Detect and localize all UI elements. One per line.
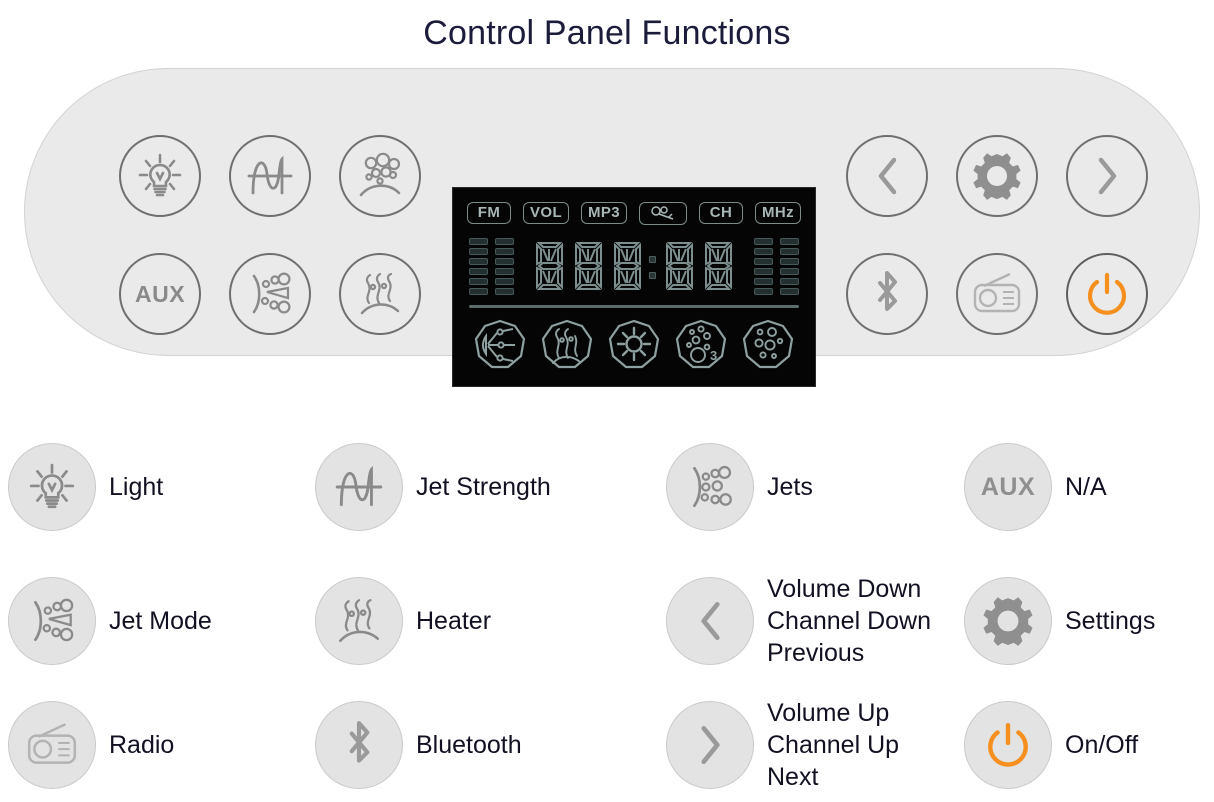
lcd-tag-ch: CH <box>699 202 743 224</box>
light-button[interactable] <box>119 135 201 217</box>
lcd-icon-bubbles <box>739 318 797 372</box>
legend-power: On/Off <box>960 688 1214 802</box>
jet-mode-icon <box>244 270 296 318</box>
next-button[interactable] <box>1066 135 1148 217</box>
legend-previous-button[interactable] <box>666 577 754 665</box>
legend-settings: Settings <box>960 554 1214 688</box>
gear-icon <box>982 595 1034 647</box>
radio-icon <box>24 722 80 768</box>
legend-label: Jets <box>767 471 813 503</box>
legend-jet-strength-button[interactable] <box>315 443 403 531</box>
legend-light-button[interactable] <box>8 443 96 531</box>
left-button-cluster: AUX <box>105 117 435 353</box>
legend-grid: Light Jet Strength Jets <box>0 420 1214 802</box>
heater-button[interactable] <box>339 253 421 335</box>
lcd-digit-row <box>463 228 805 300</box>
bar-segment <box>469 248 488 255</box>
chevron-right-icon <box>689 720 731 770</box>
chevron-right-icon <box>1087 152 1127 200</box>
lcd-icon-jet-spray <box>471 318 529 372</box>
aux-button[interactable]: AUX <box>119 253 201 335</box>
bar-segment <box>495 278 514 285</box>
legend-radio-button[interactable] <box>8 701 96 789</box>
aux-label: AUX <box>981 473 1035 502</box>
bar-segment <box>754 238 773 245</box>
legend-heater-button[interactable] <box>315 577 403 665</box>
lcd-icon-heater <box>538 318 596 372</box>
settings-button[interactable] <box>956 135 1038 217</box>
chevron-left-icon <box>689 596 731 646</box>
bar-segment <box>754 288 773 295</box>
bluetooth-button[interactable] <box>846 253 928 335</box>
legend-jets: Jets <box>660 420 960 554</box>
jet-mode-icon <box>683 462 737 512</box>
legend-jet-mode-button[interactable] <box>8 577 96 665</box>
lcd-tag-mhz: MHz <box>755 202 801 224</box>
ozone-badge: 3 <box>710 348 717 363</box>
lcd-digit <box>532 239 567 293</box>
legend-bluetooth-button[interactable] <box>315 701 403 789</box>
bar-segment <box>780 268 799 275</box>
lcd-icon-ozone: 3 <box>672 318 730 372</box>
bar-segment <box>754 258 773 265</box>
power-button[interactable] <box>1066 253 1148 335</box>
legend-power-button[interactable] <box>964 701 1052 789</box>
bar-segment <box>469 238 488 245</box>
radio-icon <box>970 272 1024 316</box>
jet-mode-icon <box>25 596 79 646</box>
lcd-tag-fm: FM <box>467 202 511 224</box>
legend-aux: AUX N/A <box>960 420 1214 554</box>
gear-icon <box>972 151 1022 201</box>
jet-mode-button[interactable] <box>229 253 311 335</box>
power-icon <box>983 720 1033 770</box>
legend-label: Bluetooth <box>416 729 522 761</box>
bar-segment <box>469 258 488 265</box>
jets-button[interactable] <box>339 135 421 217</box>
light-bulb-icon <box>26 461 78 513</box>
bar-segment <box>780 278 799 285</box>
power-icon <box>1083 270 1131 318</box>
legend-label: Jet Mode <box>109 605 212 637</box>
bar-segment <box>780 238 799 245</box>
legend-label: Radio <box>109 729 174 761</box>
legend-label: Light <box>109 471 163 503</box>
lcd-tag-row: FM VOL MP3 CH MHz <box>463 198 805 228</box>
sine-wave-icon <box>332 462 386 512</box>
legend-label: On/Off <box>1065 729 1138 761</box>
bubbles-icon <box>355 152 405 200</box>
legend-next-button[interactable] <box>666 701 754 789</box>
legend-label: Volume Up Channel Up Next <box>767 697 899 793</box>
lcd-status-icon-row: 3 <box>463 314 805 376</box>
legend-aux-button[interactable]: AUX <box>964 443 1052 531</box>
control-panel-body: AUX <box>24 68 1200 356</box>
legend-label: Settings <box>1065 605 1155 637</box>
lcd-display: FM VOL MP3 CH MHz <box>452 187 816 387</box>
legend-radio: Radio <box>0 688 305 802</box>
right-button-cluster <box>832 117 1162 353</box>
lcd-tag-mp3: MP3 <box>581 202 627 224</box>
radio-button[interactable] <box>956 253 1038 335</box>
bar-segment <box>780 248 799 255</box>
legend-light: Light <box>0 420 305 554</box>
bar-segment <box>495 238 514 245</box>
bar-segment <box>495 288 514 295</box>
legend-jet-mode: Jet Mode <box>0 554 305 688</box>
legend-bluetooth: Bluetooth <box>305 688 660 802</box>
aux-label: AUX <box>135 281 185 308</box>
bar-column <box>495 238 514 295</box>
bar-segment <box>469 288 488 295</box>
jet-strength-button[interactable] <box>229 135 311 217</box>
legend-label: Heater <box>416 605 491 637</box>
lcd-digits <box>532 239 736 293</box>
lcd-digit <box>571 239 606 293</box>
legend-jets-button[interactable] <box>666 443 754 531</box>
legend-label: Jet Strength <box>416 471 551 503</box>
bar-segment <box>495 268 514 275</box>
legend-heater: Heater <box>305 554 660 688</box>
key-icon <box>647 206 679 221</box>
lcd-bargraph-right <box>754 238 799 295</box>
legend-label: Volume Down Channel Down Previous <box>767 573 931 669</box>
bar-segment <box>495 258 514 265</box>
bar-column <box>469 238 488 295</box>
bar-column <box>754 238 773 295</box>
bar-segment <box>469 268 488 275</box>
sine-wave-icon <box>244 152 296 200</box>
lcd-bargraph-left <box>469 238 514 295</box>
chevron-left-icon <box>867 152 907 200</box>
bluetooth-icon <box>867 268 907 320</box>
lcd-colon <box>649 244 658 288</box>
bar-segment <box>754 268 773 275</box>
lcd-digit <box>610 239 645 293</box>
lcd-icon-light <box>605 318 663 372</box>
bar-segment <box>754 248 773 255</box>
bluetooth-icon <box>338 718 380 772</box>
light-bulb-icon <box>135 151 185 201</box>
lcd-tag-key <box>639 202 687 225</box>
lcd-tag-vol: VOL <box>523 202 569 224</box>
bar-segment <box>469 278 488 285</box>
legend-label: N/A <box>1065 471 1107 503</box>
bar-segment <box>780 258 799 265</box>
previous-button[interactable] <box>846 135 928 217</box>
bar-segment <box>495 248 514 255</box>
legend-next: Volume Up Channel Up Next <box>660 688 960 802</box>
lcd-digit <box>662 239 697 293</box>
legend-settings-button[interactable] <box>964 577 1052 665</box>
legend-jet-strength: Jet Strength <box>305 420 660 554</box>
bar-segment <box>754 278 773 285</box>
lcd-digit <box>701 239 736 293</box>
heater-waves-icon <box>355 270 405 318</box>
bar-column <box>780 238 799 295</box>
lcd-separator <box>469 305 799 308</box>
control-panel-region: AUX <box>0 58 1214 358</box>
legend-previous: Volume Down Channel Down Previous <box>660 554 960 688</box>
heater-waves-icon <box>333 596 385 646</box>
page-title: Control Panel Functions <box>0 0 1214 58</box>
bar-segment <box>780 288 799 295</box>
